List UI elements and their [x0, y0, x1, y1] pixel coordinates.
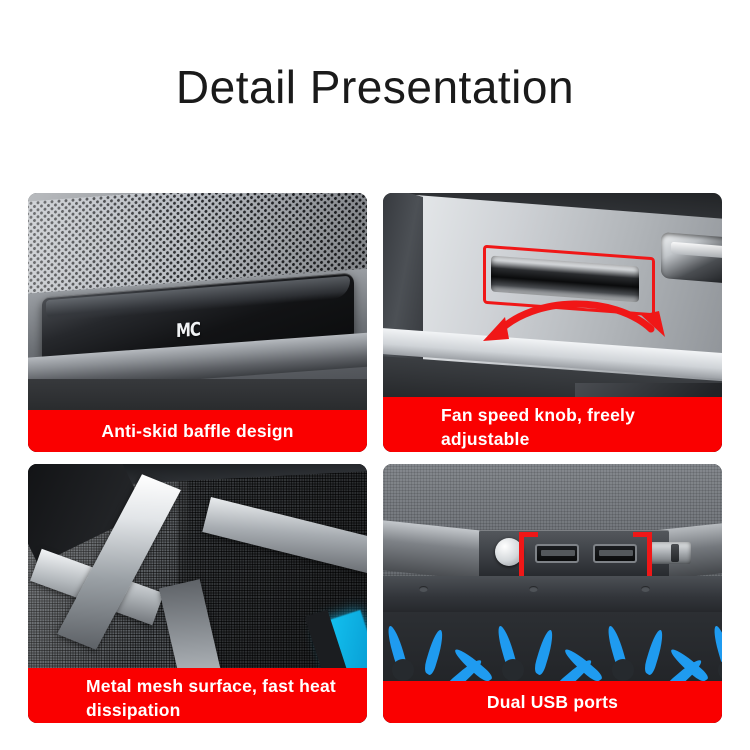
detail-card-fan-speed-knob[interactable]: Fan speed knob, freely adjustable	[383, 193, 722, 452]
detail-card-grid: MC Anti-skid baffle design	[28, 193, 722, 717]
detail-card-anti-skid-baffle[interactable]: MC Anti-skid baffle design	[28, 193, 367, 452]
brand-logo: MC	[176, 318, 200, 342]
fan-blade	[643, 627, 665, 677]
detail-card-metal-mesh-surface[interactable]: Metal mesh surface, fast heat dissipatio…	[28, 464, 367, 723]
fan-blade	[383, 647, 385, 683]
usb-port-1	[535, 544, 579, 563]
fan-blade	[533, 627, 555, 677]
page-title: Detail Presentation	[0, 60, 750, 114]
caption-line-1: Fan speed knob, freely	[441, 403, 710, 427]
side-port-slot	[661, 232, 722, 284]
caption-line-2: adjustable	[441, 427, 710, 451]
card-caption: Anti-skid baffle design	[28, 410, 367, 452]
fan-hub	[718, 659, 722, 681]
fan-hub	[392, 659, 414, 681]
caption-line-2: dissipation	[86, 698, 355, 722]
card-caption: Dual USB ports	[383, 681, 722, 723]
rotation-arrow-annotation	[479, 289, 669, 349]
caption-line-1: Metal mesh surface, fast heat	[86, 674, 355, 698]
usb-port-2	[593, 544, 637, 563]
fan-hub	[612, 659, 634, 681]
toggle-switch	[649, 542, 691, 564]
detail-card-dual-usb-ports[interactable]: Dual USB ports	[383, 464, 722, 723]
housing-screw	[529, 586, 538, 592]
card-caption: Fan speed knob, freely adjustable	[383, 397, 722, 452]
housing-screw	[419, 586, 428, 592]
card-caption: Metal mesh surface, fast heat dissipatio…	[28, 668, 367, 723]
housing-screw	[641, 586, 650, 592]
fan-hub	[502, 659, 524, 681]
product-detail-page: Detail Presentation MC Anti-skid baffle …	[0, 0, 750, 750]
fan-blade	[423, 627, 445, 677]
